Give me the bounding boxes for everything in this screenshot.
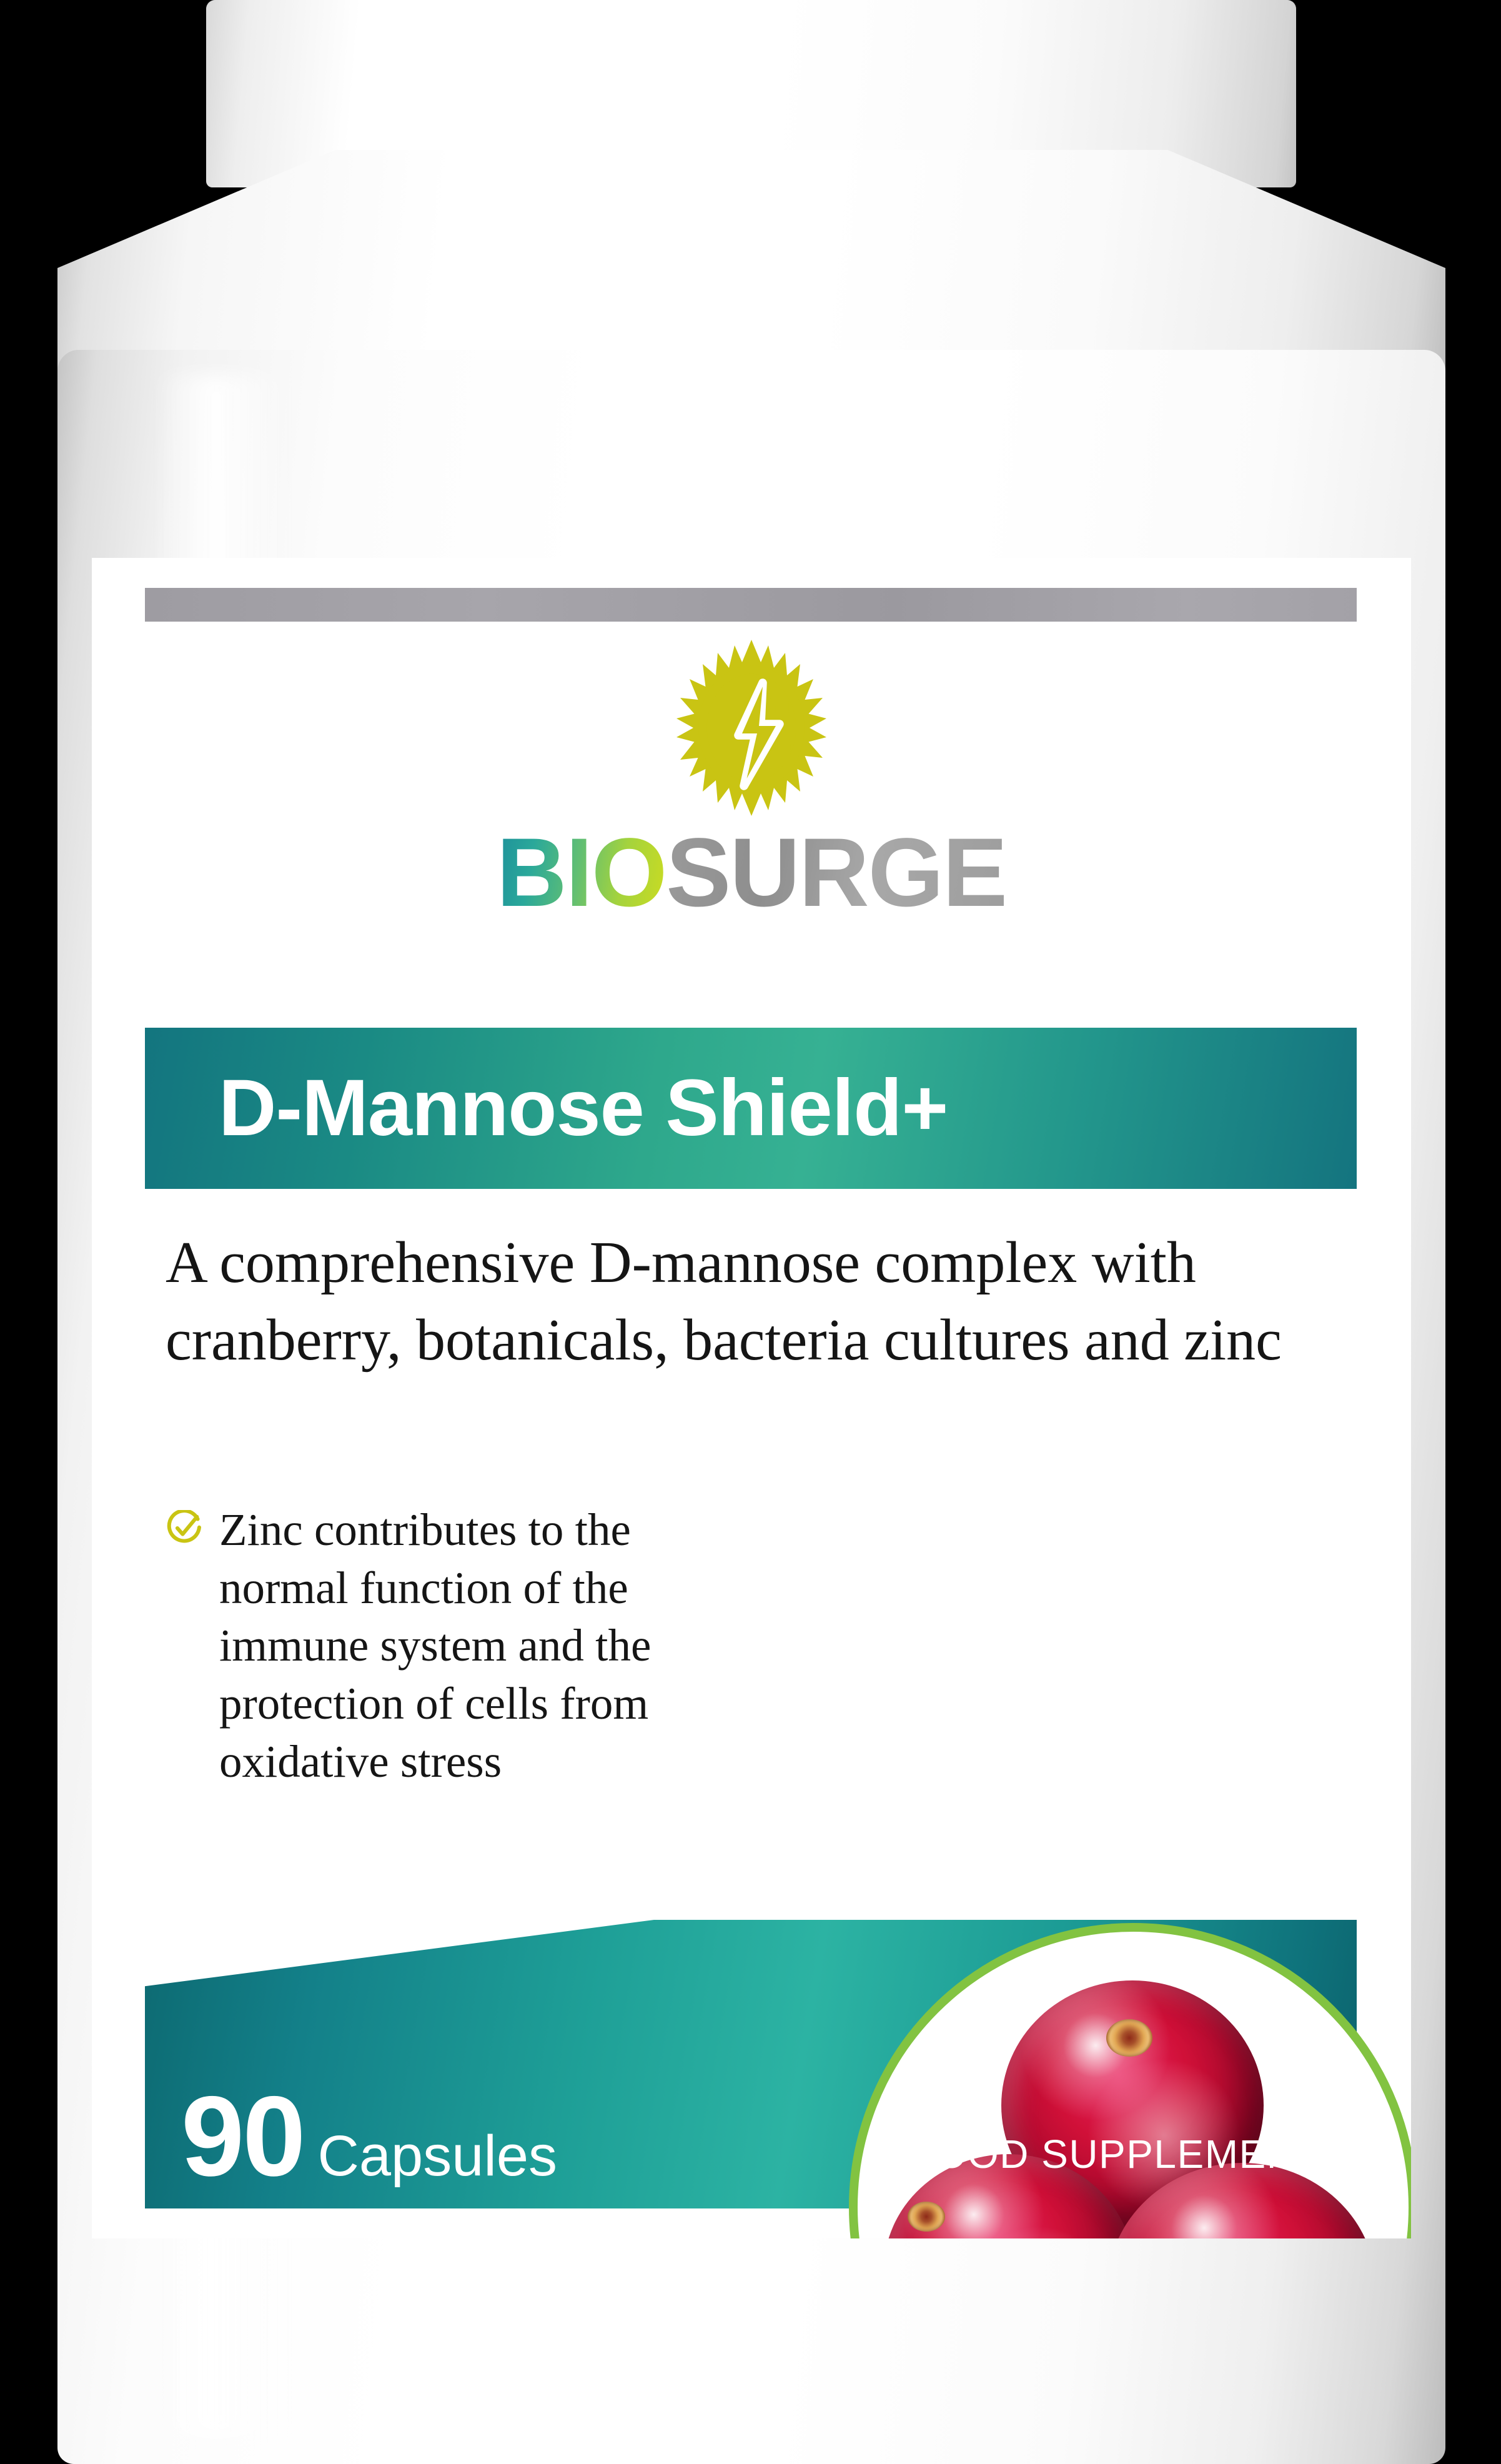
product-label: BIOSURGE D-Mannose Shield+ A comprehensi… xyxy=(92,558,1411,2238)
cranberries-photo xyxy=(849,1923,1411,2238)
lightning-bolt-sunburst-icon xyxy=(658,634,845,822)
label-top-rule xyxy=(145,588,1357,622)
wordmark-surge: SURGE xyxy=(666,818,1006,927)
claim-text: Zinc contributes to the normal function … xyxy=(219,1501,766,1791)
cranberry-calyx-top xyxy=(1106,2019,1152,2057)
wordmark-bio: BIO xyxy=(497,818,666,927)
product-photo-canvas: BIOSURGE D-Mannose Shield+ A comprehensi… xyxy=(0,0,1501,2464)
product-title-bar: D-Mannose Shield+ xyxy=(145,1028,1357,1189)
claim-item: Zinc contributes to the normal function … xyxy=(167,1501,766,1791)
cranberry-cluster xyxy=(858,1932,1409,2238)
product-description: A comprehensive D-mannose complex with c… xyxy=(166,1224,1340,1379)
cranberry-calyx-left xyxy=(908,2202,945,2232)
check-circle-icon xyxy=(167,1510,203,1546)
brand-logo: BIOSURGE xyxy=(92,634,1411,984)
brand-wordmark: BIOSURGE xyxy=(497,824,1006,922)
product-title: D-Mannose Shield+ xyxy=(219,1068,948,1148)
